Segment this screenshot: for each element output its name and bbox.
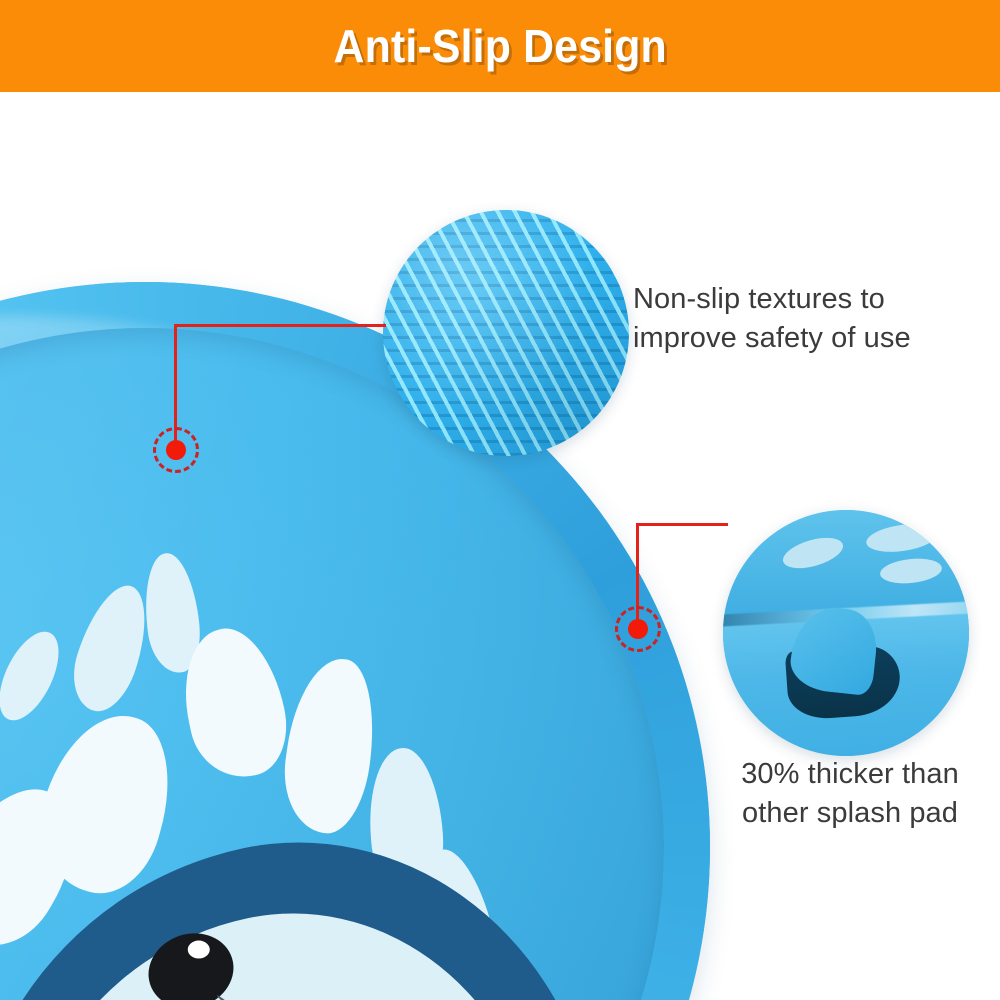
shark-graphic	[0, 848, 664, 1000]
thickness-leader-horizontal	[636, 523, 728, 526]
thickness-caption-line-2: other splash pad	[705, 794, 995, 833]
target-dot	[166, 440, 186, 460]
infographic-canvas: Anti-Slip Design	[0, 0, 1000, 1000]
page-title: Anti-Slip Design	[333, 19, 666, 73]
thickness-caption: 30% thicker than other splash pad	[705, 755, 995, 833]
texture-closeup-circle	[383, 210, 629, 456]
header-banner: Anti-Slip Design	[0, 0, 1000, 92]
texture-caption-line-1: Non-slip textures to	[633, 280, 983, 319]
texture-target-marker	[153, 427, 199, 473]
product-photo: Non-slip textures to improve safety of u…	[0, 92, 1000, 1000]
texture-caption-line-2: improve safety of use	[633, 319, 983, 358]
thickness-target-marker	[615, 606, 661, 652]
target-dot	[628, 619, 648, 639]
thickness-caption-line-1: 30% thicker than	[705, 755, 995, 794]
thickness-closeup-circle	[723, 510, 969, 756]
texture-caption: Non-slip textures to improve safety of u…	[633, 280, 983, 358]
texture-sheen	[383, 210, 629, 456]
texture-leader-horizontal	[174, 324, 386, 327]
eye-glint	[188, 941, 210, 959]
